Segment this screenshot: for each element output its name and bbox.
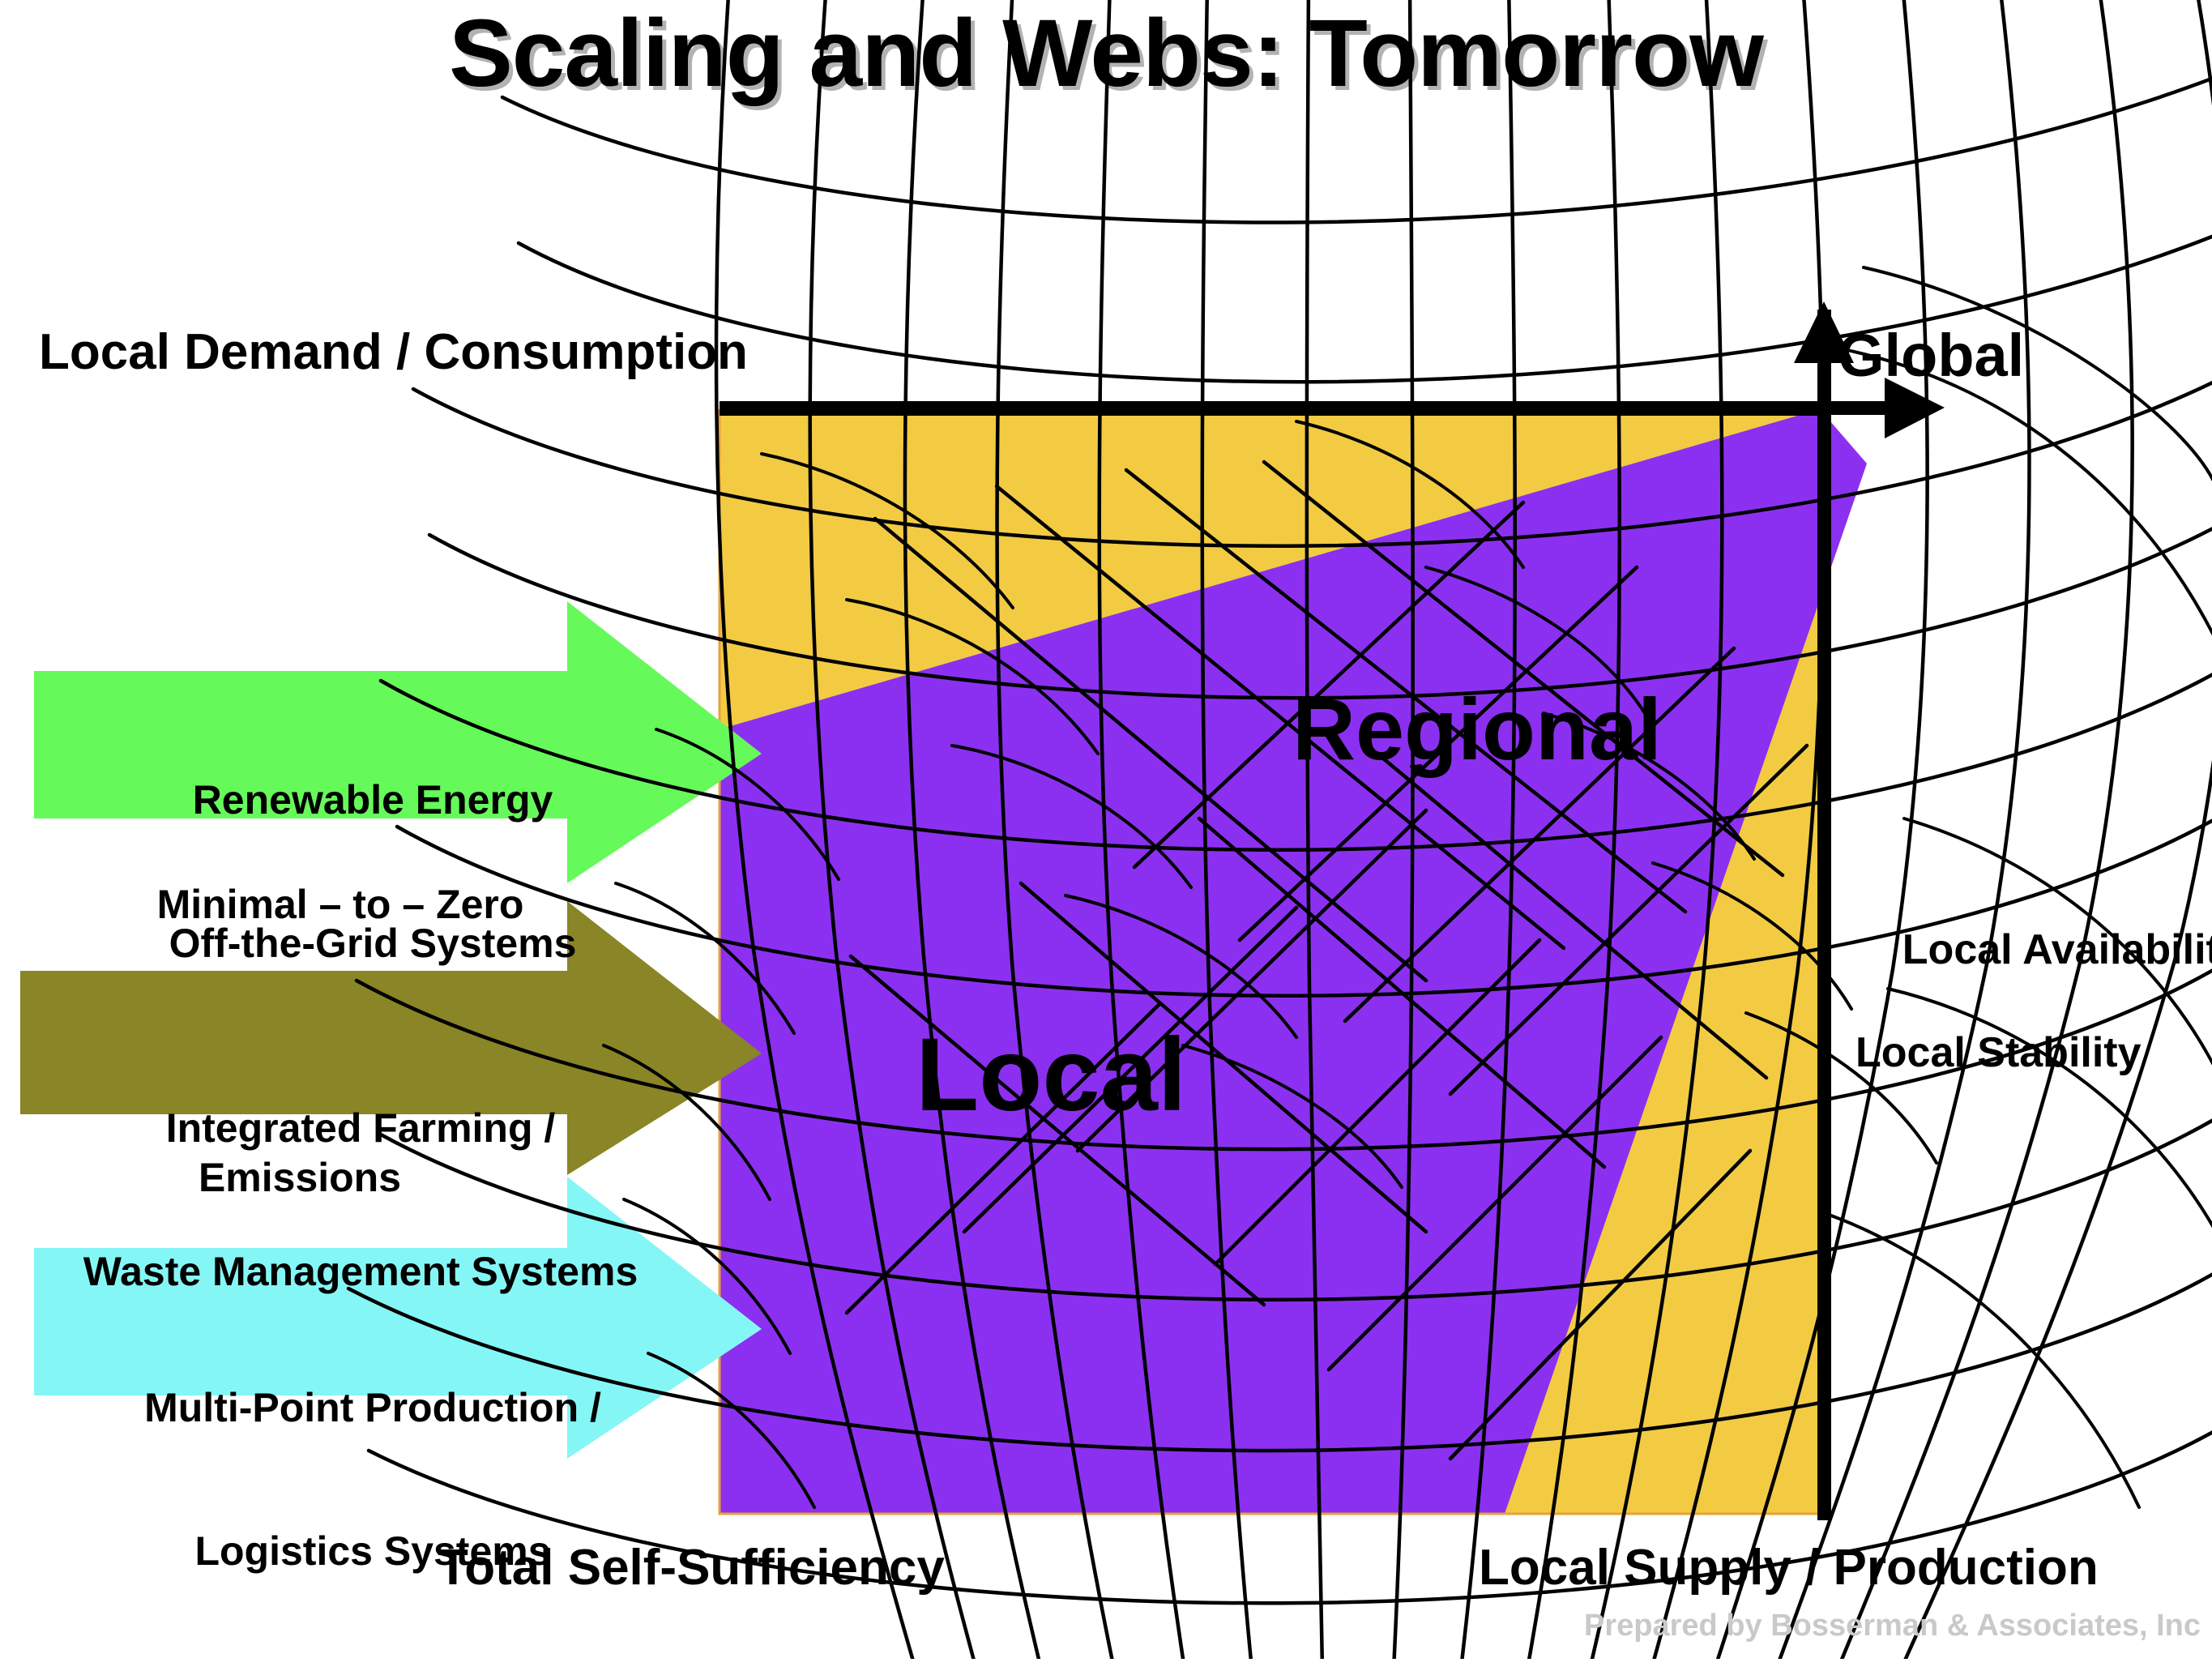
arrow-label-multi-point-production: Multi-Point Production / Logistics Syste… [49,1289,697,1671]
right-side-annotation-line2: Local Stability [1855,1029,2212,1076]
x-axis-label: Local Supply / Production [1479,1540,2099,1596]
plot-top-border [720,401,1821,416]
y-axis-label: Local Demand / Consumption [39,324,748,380]
slide-canvas: Scaling and Webs: Tomorrow Local Demand … [0,0,2212,1659]
right-side-annotation-line1: Local Availability [1902,926,2212,973]
right-side-annotation: Local Availability Local Stability [1855,879,2212,1170]
region-label-regional: Regional [1292,681,1662,779]
region-label-local: Local [916,1017,1186,1133]
arrow-label-multi-point-production-line1: Multi-Point Production / [49,1384,697,1432]
arrow-label-renewable-energy-line1: Renewable Energy [49,776,697,824]
footer-credit: Prepared by Bosserman & Associates, Inc [1584,1609,2201,1643]
arrow-label-renewable-energy: Renewable Energy Off-the-Grid Systems [49,681,697,1063]
between-label-emissions: Emissions [97,1155,502,1200]
slide-title: Scaling and Webs: Tomorrow [0,0,2212,107]
arrow-label-multi-point-production-line2: Logistics Systems [49,1528,697,1575]
axis-corner-label-global: Global [1838,323,2024,390]
x-axis-line [1726,401,1904,415]
between-label-minimal-to-zero: Minimal – to – Zero [81,882,600,927]
arrow-label-integrated-farming-line1: Integrated Farming / [20,1105,701,1152]
y-axis-line [1817,310,1831,1520]
